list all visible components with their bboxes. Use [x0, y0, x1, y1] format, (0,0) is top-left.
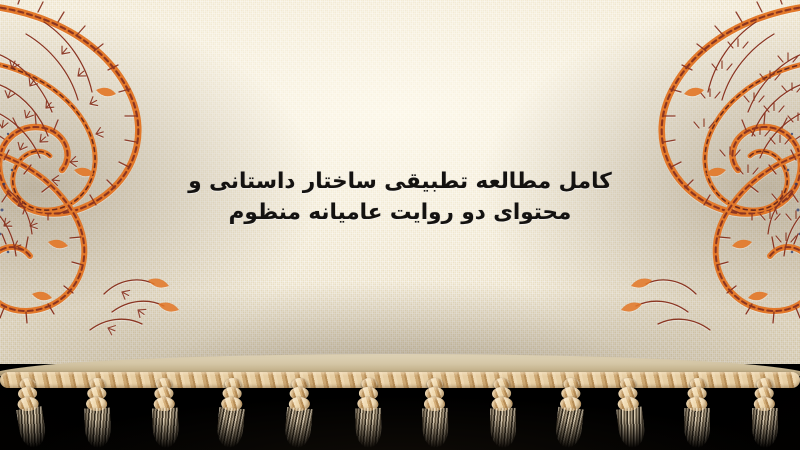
tassel-threads [284, 407, 313, 449]
tassel-threads [84, 408, 111, 449]
tassel-threads [616, 406, 647, 449]
tassel-threads [152, 408, 179, 449]
tassel [81, 372, 112, 450]
tassel-fringe [0, 364, 800, 450]
slide-canvas: کامل مطالعه تطبیقی ساختار داستانی و محتو… [0, 0, 800, 450]
tassel [486, 371, 520, 450]
tassel-threads [355, 408, 382, 448]
tassel-threads [554, 407, 584, 449]
tassel [555, 372, 586, 450]
tassel [12, 371, 46, 450]
tassel-threads [684, 408, 710, 448]
tassel-threads [752, 408, 778, 448]
tassel [681, 372, 714, 450]
tassel-threads [16, 406, 48, 450]
tassel [284, 372, 315, 450]
title-line-2: محتوای دو روایت عامیانه منظوم [0, 197, 800, 228]
tassel [351, 371, 385, 450]
tassel [613, 372, 646, 450]
tassel-threads [422, 408, 449, 448]
tassel-threads [490, 408, 517, 448]
title-line-1: کامل مطالعه تطبیقی ساختار داستانی و [0, 166, 800, 197]
tassel [216, 372, 249, 450]
tassel [148, 372, 181, 450]
tassel [749, 372, 780, 450]
tassel-threads [216, 407, 245, 449]
slide-title: کامل مطالعه تطبیقی ساختار داستانی و محتو… [0, 166, 800, 228]
tassel [420, 372, 450, 450]
